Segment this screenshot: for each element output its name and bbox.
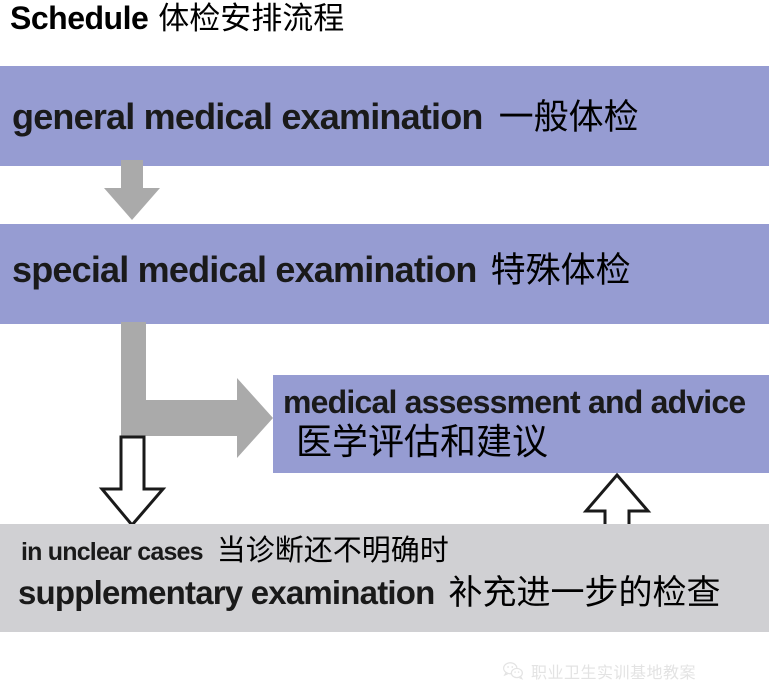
watermark: 职业卫生实训基地教案	[502, 659, 696, 683]
watermark-text: 职业卫生实训基地教案	[531, 659, 696, 683]
arrow-general-to-special	[98, 160, 166, 222]
node-special-label-chinese: 特殊体检	[491, 251, 631, 291]
arrow-down-hollow-shape	[102, 437, 163, 525]
node-assessment-english-text: medical assessment and advice	[283, 384, 745, 420]
node-general-label-chinese: 一般体检	[499, 98, 639, 138]
node-assessment-label-english: medical assessment and advice	[283, 386, 745, 418]
node-supplementary-line1-chinese: 当诊断还不明确时	[217, 533, 449, 567]
node-assessment-label-chinese: 医学评估和建议	[296, 425, 548, 461]
node-supplementary-label-line2: supplementary examination补充进一步的检查	[18, 576, 720, 610]
node-supplementary-line2-english: supplementary examination	[18, 574, 434, 611]
node-special-label-english: special medical examination	[12, 249, 477, 290]
node-general-label: general medical examination一般体检	[12, 99, 639, 136]
node-supplementary-line1-english: in unclear cases	[21, 538, 203, 566]
node-supplementary-label-line1: in unclear cases当诊断还不明确时	[21, 536, 449, 565]
node-special-label: special medical examination特殊体检	[12, 252, 631, 289]
arrow-supplementary-to-assessment	[582, 473, 652, 529]
wechat-icon	[502, 660, 524, 682]
page-title: Schedule体检安排流程	[10, 2, 344, 35]
node-general-label-english: general medical examination	[12, 96, 483, 137]
flowchart-page: Schedule体检安排流程 general medical examinati…	[0, 0, 769, 700]
arrow-up-hollow-shape	[586, 475, 648, 529]
arrow-special-to-supplementary	[98, 437, 166, 527]
arrow-down-solid-shape	[104, 160, 160, 220]
page-title-english: Schedule	[10, 0, 148, 36]
page-title-chinese: 体检安排流程	[158, 1, 344, 37]
node-assessment-chinese-text: 医学评估和建议	[296, 422, 548, 463]
node-supplementary-line2-chinese: 补充进一步的检查	[448, 573, 720, 613]
